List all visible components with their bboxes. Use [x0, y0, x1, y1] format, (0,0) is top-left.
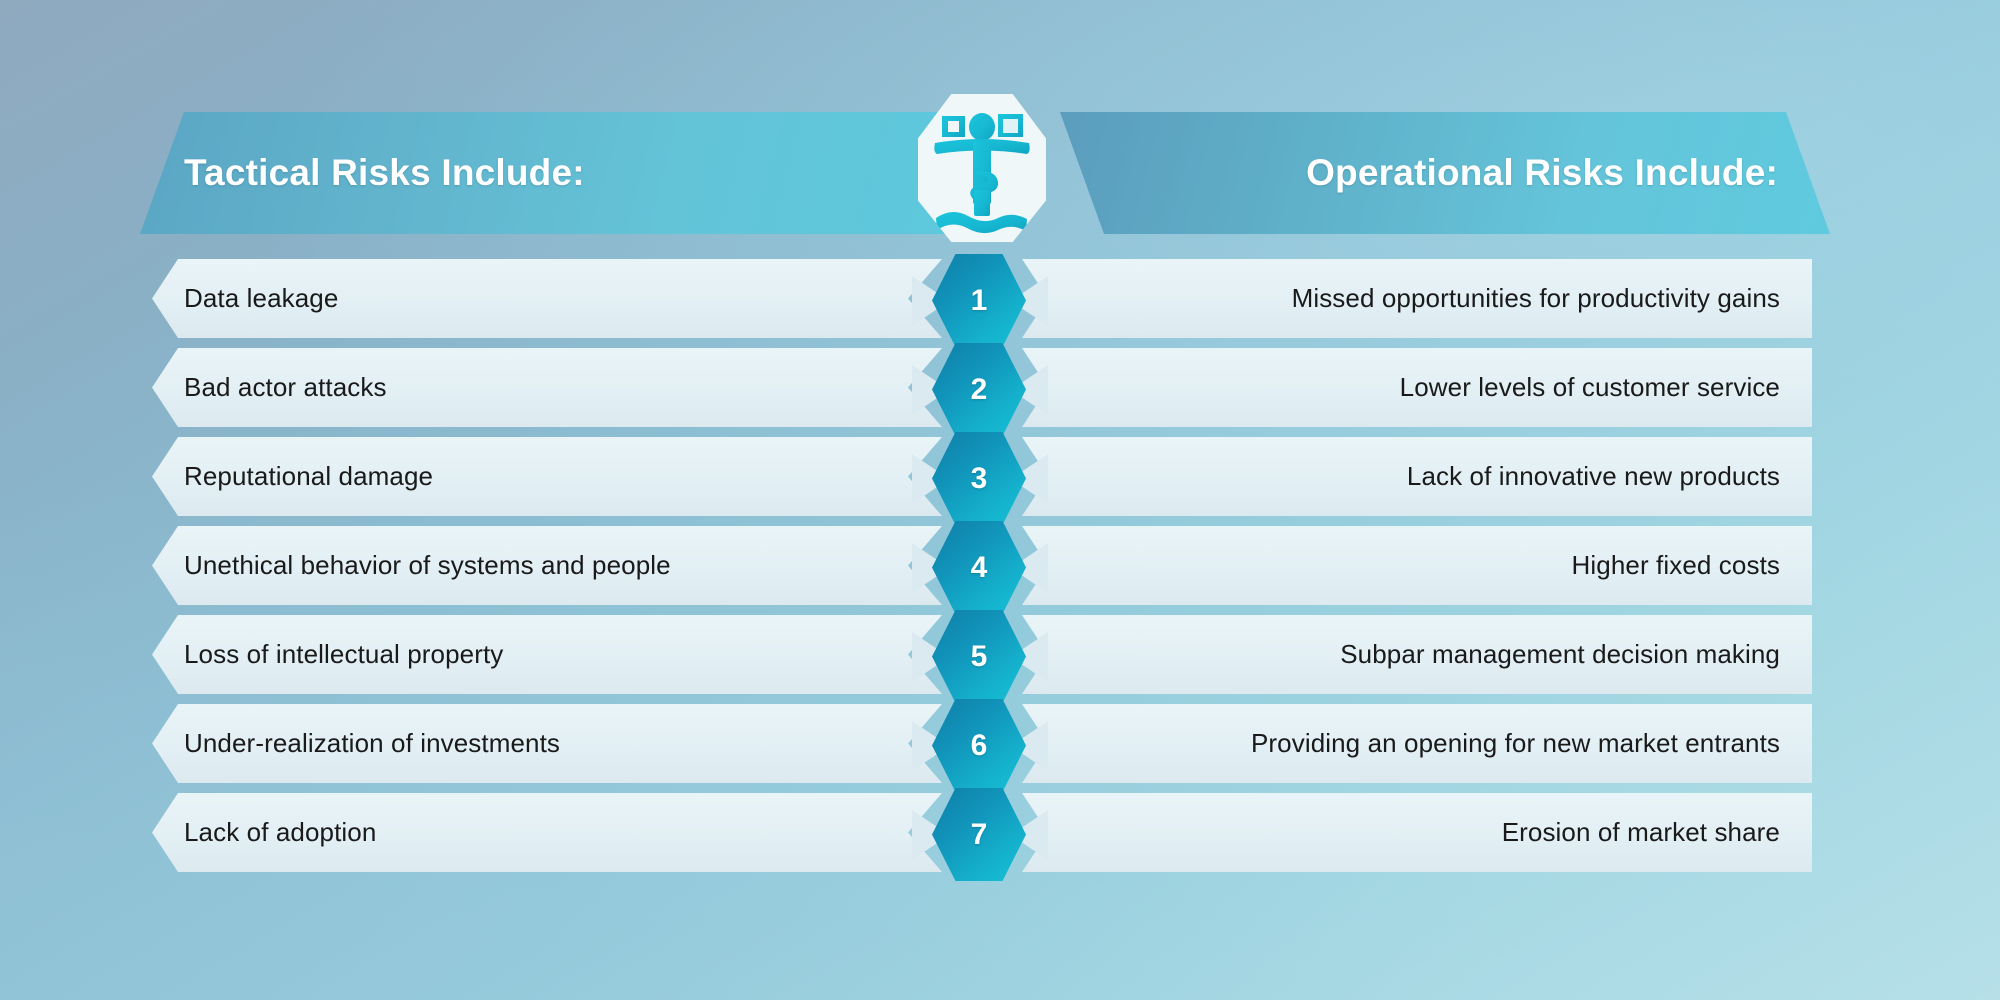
tactical-risk-item-7[interactable]: Lack of adoption — [152, 793, 942, 872]
tactical-risk-label: Loss of intellectual property — [184, 639, 503, 670]
row-number-badge: 1 — [932, 254, 1026, 347]
row-number: 5 — [971, 640, 988, 674]
row-number: 3 — [971, 462, 988, 496]
row-number-badge: 4 — [932, 521, 1026, 614]
operational-risk-label: Lack of innovative new products — [1407, 461, 1780, 492]
tactical-risk-item-6[interactable]: Under-realization of investments — [152, 704, 942, 783]
tactical-risk-label: Bad actor attacks — [184, 372, 387, 403]
tactical-risk-item-5[interactable]: Loss of intellectual property — [152, 615, 942, 694]
tactical-risk-item-4[interactable]: Unethical behavior of systems and people — [152, 526, 942, 605]
table-row: Loss of intellectual property 5 Subpar m… — [0, 612, 2000, 701]
operational-risk-label: Erosion of market share — [1502, 817, 1780, 848]
tactical-risk-label: Reputational damage — [184, 461, 433, 492]
operational-risk-label: Missed opportunities for productivity ga… — [1292, 283, 1780, 314]
operational-risk-item-4[interactable]: Higher fixed costs — [1022, 526, 1812, 605]
operational-risk-label: Providing an opening for new market entr… — [1251, 728, 1780, 759]
operational-risk-item-3[interactable]: Lack of innovative new products — [1022, 437, 1812, 516]
table-row: Under-realization of investments 6 Provi… — [0, 701, 2000, 790]
infographic-stage: Tactical Risks Include: Operational Risk… — [0, 0, 2000, 1000]
operational-risk-label: Lower levels of customer service — [1400, 372, 1780, 403]
operational-risk-item-7[interactable]: Erosion of market share — [1022, 793, 1812, 872]
person-balancing-on-wave-icon — [918, 94, 1046, 242]
table-row: Unethical behavior of systems and people… — [0, 523, 2000, 612]
row-number: 2 — [971, 373, 988, 407]
tactical-risk-label: Under-realization of investments — [184, 728, 560, 759]
tactical-risk-item-2[interactable]: Bad actor attacks — [152, 348, 942, 427]
risk-rows-container: Data leakage 1 Missed opportunities for … — [0, 256, 2000, 879]
tactical-risk-item-3[interactable]: Reputational damage — [152, 437, 942, 516]
header-banner-operational: Operational Risks Include: — [1060, 112, 1830, 234]
row-number-badge: 3 — [932, 432, 1026, 525]
row-number: 1 — [971, 284, 988, 318]
row-number: 7 — [971, 818, 988, 852]
operational-risk-item-6[interactable]: Providing an opening for new market entr… — [1022, 704, 1812, 783]
table-row: Data leakage 1 Missed opportunities for … — [0, 256, 2000, 345]
tactical-risk-label: Data leakage — [184, 283, 338, 314]
row-number-badge: 7 — [932, 788, 1026, 881]
tactical-risk-item-1[interactable]: Data leakage — [152, 259, 942, 338]
tactical-risk-label: Lack of adoption — [184, 817, 376, 848]
table-row: Reputational damage 3 Lack of innovative… — [0, 434, 2000, 523]
table-row: Lack of adoption 7 Erosion of market sha… — [0, 790, 2000, 879]
row-number-badge: 5 — [932, 610, 1026, 703]
header-title-operational: Operational Risks Include: — [1306, 152, 1778, 194]
row-number-badge: 2 — [932, 343, 1026, 436]
tactical-risk-label: Unethical behavior of systems and people — [184, 550, 671, 581]
header-banner-tactical: Tactical Risks Include: — [140, 112, 1020, 234]
table-row: Bad actor attacks 2 Lower levels of cust… — [0, 345, 2000, 434]
operational-risk-label: Higher fixed costs — [1572, 550, 1780, 581]
row-number: 4 — [971, 551, 988, 585]
operational-risk-item-5[interactable]: Subpar management decision making — [1022, 615, 1812, 694]
header-title-tactical: Tactical Risks Include: — [184, 152, 585, 194]
operational-risk-item-1[interactable]: Missed opportunities for productivity ga… — [1022, 259, 1812, 338]
row-number: 6 — [971, 729, 988, 763]
operational-risk-label: Subpar management decision making — [1340, 639, 1780, 670]
row-number-badge: 6 — [932, 699, 1026, 792]
operational-risk-item-2[interactable]: Lower levels of customer service — [1022, 348, 1812, 427]
